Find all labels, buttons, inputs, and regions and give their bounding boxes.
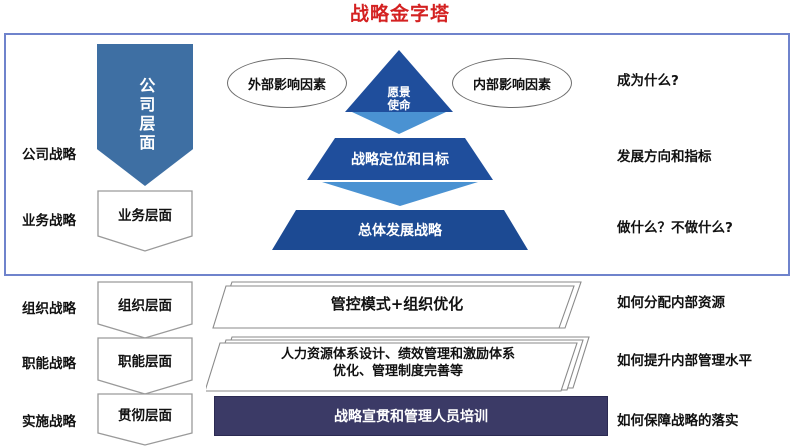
chevron-outline-shape bbox=[97, 393, 193, 446]
down-arrow-icon bbox=[322, 182, 478, 206]
pyramid-apex-triangle[interactable]: 愿景 使命 bbox=[345, 50, 453, 112]
note-improve-management: 如何提升内部管理水平 bbox=[617, 349, 752, 369]
stacked-trapezoid-hr-system[interactable]: 人力资源体系设计、绩效管理和激励体系 优化、管理制度完善等 bbox=[206, 336, 590, 392]
ellipse-internal-factors[interactable]: 内部影响因素 bbox=[452, 58, 572, 108]
pyramid-arrow-lower bbox=[322, 182, 478, 206]
page-title: 战略金字塔 bbox=[0, 2, 800, 26]
pyramid-arrow-upper bbox=[352, 112, 446, 134]
chevron-outline-shape bbox=[97, 337, 193, 395]
ellipse-external-factors[interactable]: 外部影响因素 bbox=[227, 58, 347, 108]
ellipse-internal-factors-label: 内部影响因素 bbox=[473, 74, 551, 93]
row-label-organization-strategy: 组织战略 bbox=[6, 297, 92, 317]
trapezoid-shape bbox=[307, 138, 493, 180]
pyramid-base-trapezoid[interactable]: 总体发展战略 bbox=[272, 210, 528, 250]
chevron-outline-shape bbox=[97, 281, 193, 339]
pyramid-middle-trapezoid[interactable]: 战略定位和目标 bbox=[307, 138, 493, 180]
row-label-implementation-strategy: 实施战略 bbox=[6, 410, 92, 430]
triangle-shape bbox=[345, 50, 453, 112]
note-become-what: 成为什么? bbox=[617, 69, 679, 89]
note-allocate-resources: 如何分配内部资源 bbox=[617, 291, 725, 311]
stacked-trapezoid-shape bbox=[206, 336, 590, 392]
note-development-direction: 发展方向和指标 bbox=[617, 145, 712, 165]
note-what-to-do: 做什么？不做什么? bbox=[617, 216, 733, 236]
stacked-trapezoid-shape bbox=[212, 281, 582, 329]
stacked-trapezoid-control-model[interactable]: 管控模式+组织优化 bbox=[212, 281, 582, 329]
down-arrow-icon bbox=[352, 112, 446, 134]
note-ensure-implementation: 如何保障战略的落实 bbox=[617, 409, 739, 429]
ellipse-external-factors-label: 外部影响因素 bbox=[248, 74, 326, 93]
bottom-bar-strategy-training[interactable]: 战略宣贯和管理人员培训 bbox=[214, 396, 608, 436]
diagram-canvas: 战略金字塔 公司战略 业务战略 组织战略 职能战略 实施战略 公司层面 业务层面… bbox=[0, 0, 800, 446]
row-label-business-strategy: 业务战略 bbox=[6, 209, 92, 229]
row-label-corporate-strategy: 公司战略 bbox=[6, 143, 92, 163]
level-box-corporate-label: 公司层面 bbox=[137, 77, 154, 153]
row-label-function-strategy: 职能战略 bbox=[6, 352, 92, 372]
level-box-organization[interactable]: 组织层面 bbox=[97, 281, 193, 339]
bottom-bar-strategy-training-label: 战略宣贯和管理人员培训 bbox=[334, 406, 488, 426]
level-box-function[interactable]: 职能层面 bbox=[97, 337, 193, 395]
trapezoid-shape bbox=[272, 210, 528, 250]
level-box-implementation[interactable]: 贯彻层面 bbox=[97, 393, 193, 446]
chevron-outline-shape bbox=[97, 190, 193, 252]
level-box-business[interactable]: 业务层面 bbox=[97, 190, 193, 252]
